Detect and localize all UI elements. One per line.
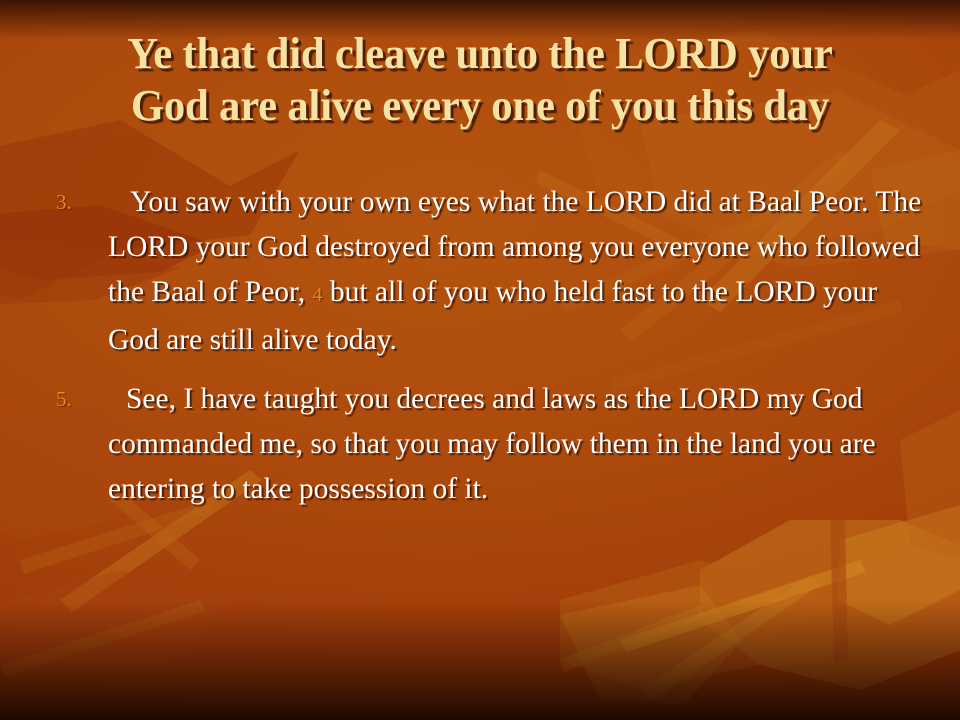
bottom-vignette — [0, 600, 960, 720]
slide-body-list: 3. You saw with your own eyes what the L… — [46, 180, 926, 522]
slide-title-line-2: God are alive every one of you this day — [36, 80, 925, 132]
presentation-slide: Ye that did cleave unto the LORD your Go… — [0, 0, 960, 720]
slide-title-line-1: Ye that did cleave unto the LORD your — [36, 28, 925, 80]
list-item: 5. See, I have taught you decrees and la… — [46, 377, 926, 512]
list-item-text-part-1: See, I have taught you decrees and laws … — [108, 383, 876, 505]
slide-title: Ye that did cleave unto the LORD your Go… — [36, 28, 925, 132]
list-item-text: See, I have taught you decrees and laws … — [108, 377, 926, 512]
list-item-marker: 5. — [46, 377, 108, 422]
list-item-text: You saw with your own eyes what the LORD… — [108, 180, 926, 363]
verse-number: 4 — [312, 284, 322, 306]
list-item: 3. You saw with your own eyes what the L… — [46, 180, 926, 363]
list-item-marker: 3. — [46, 180, 108, 225]
